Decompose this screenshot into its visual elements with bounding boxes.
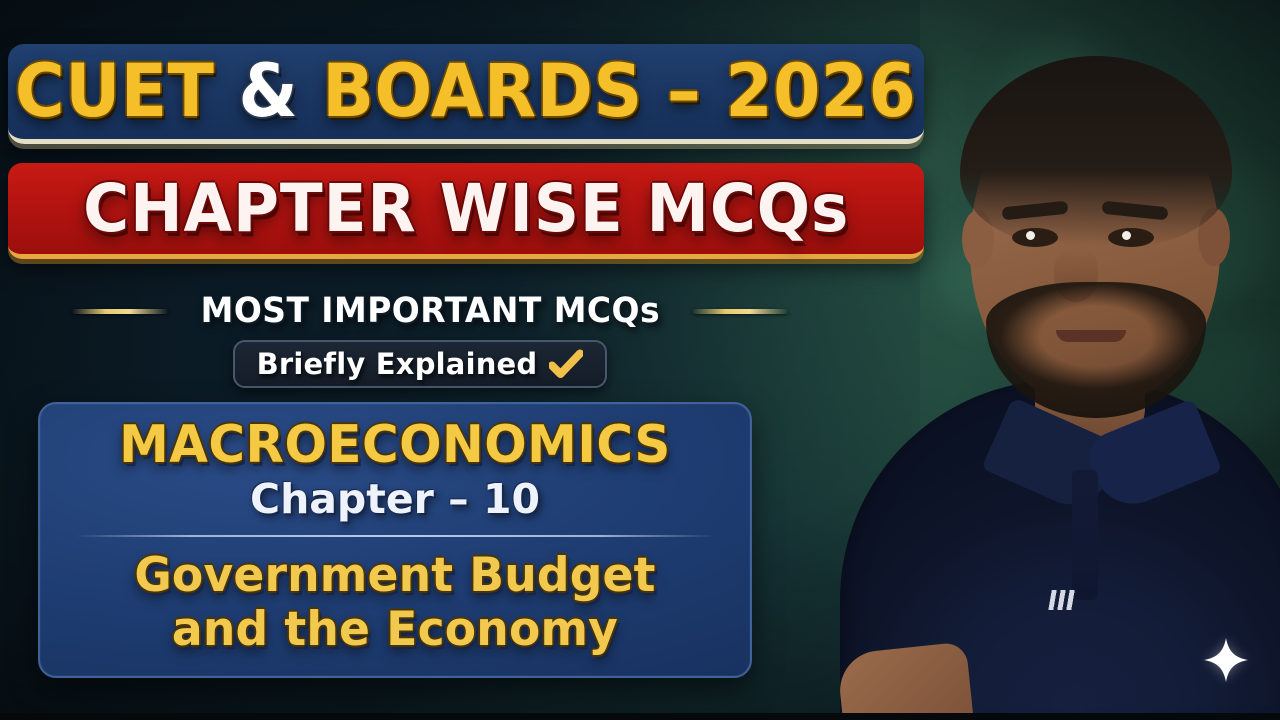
thumbnail-stage: CUET & BOARDS – 2026 CHAPTER WISE MCQs M…: [0, 0, 1280, 720]
presenter-eye-right: [1108, 228, 1154, 247]
card-divider: [75, 535, 715, 537]
briefly-explained-label: Briefly Explained: [257, 347, 538, 381]
topic-line-1: Government Budget: [51, 549, 740, 603]
subject-card: MACROECONOMICS Chapter – 10 Government B…: [38, 402, 752, 678]
exam-title-banner: CUET & BOARDS – 2026: [8, 44, 924, 144]
exam-title-text: CUET & BOARDS – 2026: [15, 55, 916, 128]
four-point-star-icon: [1203, 637, 1249, 683]
exam-title-segment-ampersand: &: [215, 49, 323, 134]
briefly-explained-badge: Briefly Explained: [233, 340, 607, 388]
shirt-logo-icon: [1048, 590, 1076, 610]
check-mark-icon: [549, 349, 583, 379]
presenter-eye-left: [1012, 228, 1058, 247]
tagline-row: MOST IMPORTANT MCQs: [40, 288, 820, 334]
exam-title-segment-cuet: CUET: [15, 49, 214, 134]
chapter-number: Chapter – 10: [40, 477, 750, 522]
subject-name: MACROECONOMICS: [54, 418, 736, 473]
presenter-mouth: [1056, 330, 1126, 342]
topic-line-2: and the Economy: [51, 603, 740, 657]
tagline-left-rule: [72, 309, 168, 314]
chapter-wise-text: CHAPTER WISE MCQs: [83, 176, 849, 242]
presenter-placket: [1072, 470, 1098, 600]
tagline-text: MOST IMPORTANT MCQs: [200, 291, 659, 331]
tagline-right-rule: [692, 309, 788, 314]
chapter-wise-banner: CHAPTER WISE MCQs: [8, 163, 924, 259]
presenter-hair: [960, 56, 1232, 246]
bottom-letterbox-strip: [0, 713, 1280, 720]
exam-title-segment-boards-year: BOARDS – 2026: [323, 49, 917, 134]
